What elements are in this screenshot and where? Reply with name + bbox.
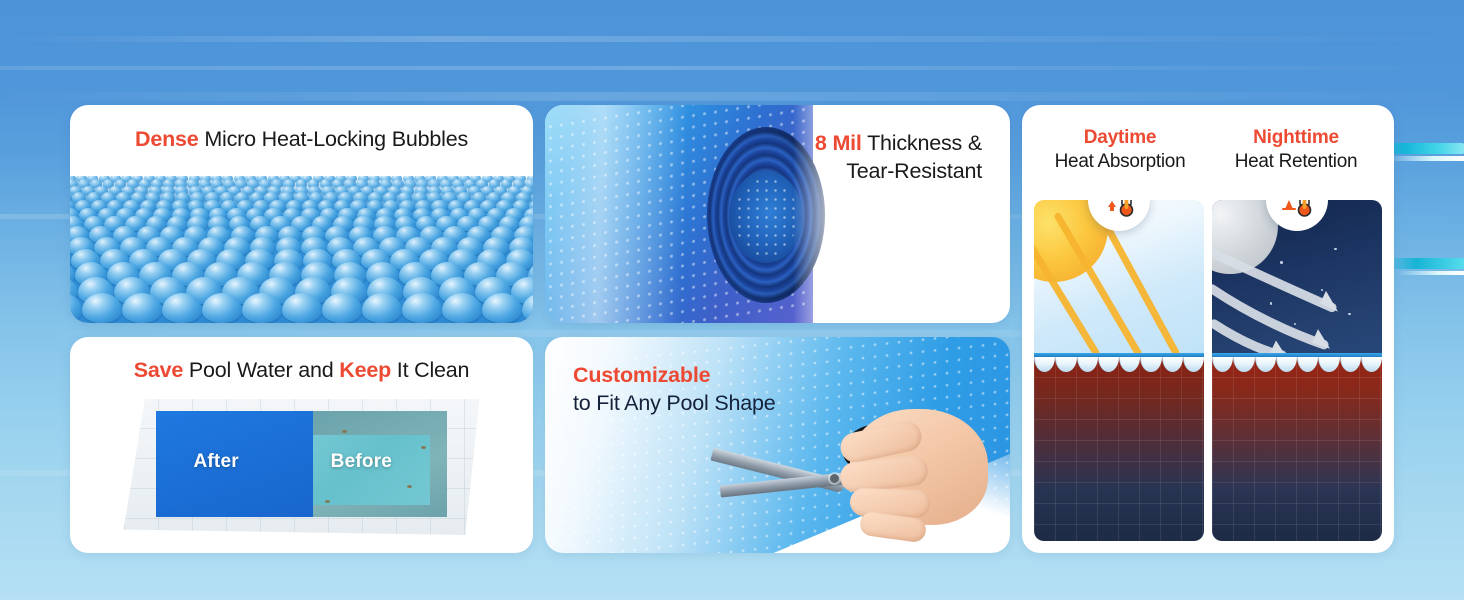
bubble-cover-layer: [1034, 357, 1204, 372]
moon-cold-air-heat-retention-illustration: [1212, 200, 1382, 541]
bubble-cover-layer: [1212, 357, 1382, 372]
feature-card-thickness: 8 Mil Thickness & Tear-Resistant: [545, 105, 1010, 323]
card-cut-title: Customizable to Fit Any Pool Shape: [573, 361, 776, 418]
feature-card-day-night: Daytime Heat Absorption Nighttime Heat R…: [1022, 105, 1394, 553]
nighttime-kicker: Nighttime: [1208, 127, 1384, 149]
bubble-field-photo: [70, 176, 533, 323]
card-roll-line2: Tear-Resistant: [846, 159, 982, 183]
label-after: After: [193, 451, 238, 473]
sun-rays-heating-pool-illustration: [1034, 200, 1204, 541]
card-cut-line2: to Fit Any Pool Shape: [573, 391, 776, 415]
daytime-subtitle: Heat Absorption: [1032, 151, 1208, 173]
feature-card-customizable: Customizable to Fit Any Pool Shape: [545, 337, 1010, 553]
card-roll-title: 8 Mil Thickness & Tear-Resistant: [762, 129, 982, 186]
daytime-kicker: Daytime: [1032, 127, 1208, 149]
card-bubbles-title-highlight: Dense: [135, 127, 199, 151]
card-bubbles-title-rest: Micro Heat-Locking Bubbles: [199, 127, 468, 151]
card-bubbles-title: Dense Micro Heat-Locking Bubbles: [70, 105, 533, 152]
pool-before-after-photo: After Before: [124, 399, 480, 535]
feature-card-dense-bubbles: Dense Micro Heat-Locking Bubbles: [70, 105, 533, 323]
feature-card-save-water: Save Pool Water and Keep It Clean After …: [70, 337, 533, 553]
hand-cutting-cover-with-scissors-photo: [798, 393, 988, 543]
card-roll-highlight: 8 Mil: [815, 131, 862, 155]
card-pool-title: Save Pool Water and Keep It Clean: [70, 337, 533, 383]
card-cut-highlight: Customizable: [573, 361, 776, 389]
label-before: Before: [331, 451, 392, 473]
nighttime-subtitle: Heat Retention: [1208, 151, 1384, 173]
